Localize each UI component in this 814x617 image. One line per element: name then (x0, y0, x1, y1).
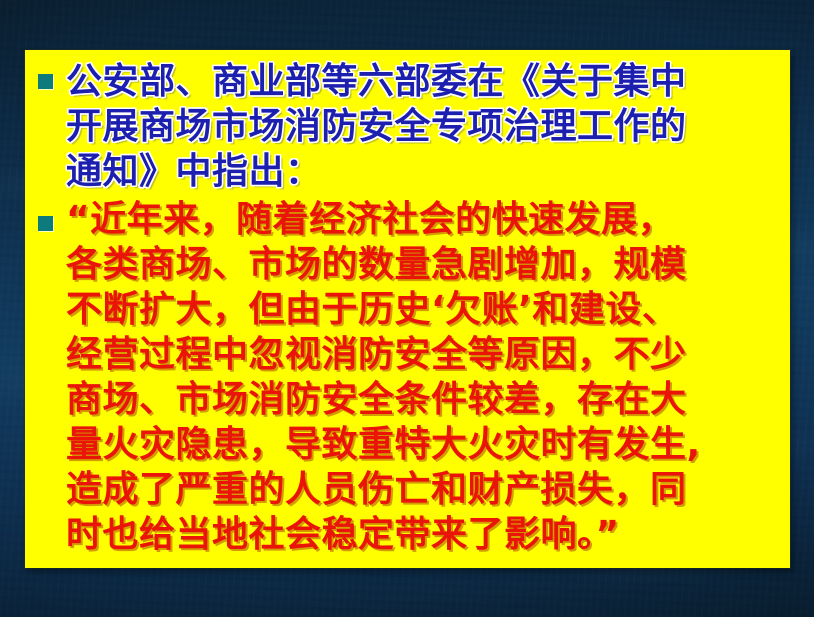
bullet-text-lines: 公安部、商业部等六部委在《关于集中 开展商场市场消防安全专项治理工作的 通知》中… (66, 59, 776, 194)
heading-line-2: 开展商场市场消防安全专项治理工作的 (66, 104, 687, 149)
square-bullet-icon (38, 216, 53, 231)
heading-line-1: 公安部、商业部等六部委在《关于集中 (66, 59, 687, 104)
quote-line-1: “近年来，随着经济社会的快速发展， (66, 197, 674, 242)
quote-line-4: 经营过程中忽视消防安全等原因，不少 (66, 332, 687, 377)
quote-line-6: 量火灾隐患，导致重特大火灾时有发生, (66, 422, 701, 467)
quote-line-2: 各类商场、市场的数量急剧增加，规模 (66, 242, 687, 287)
presentation-slide: 公安部、商业部等六部委在《关于集中 开展商场市场消防安全专项治理工作的 通知》中… (0, 0, 814, 617)
bullet-item-quotation: “近年来，随着经济社会的快速发展， 各类商场、市场的数量急剧增加，规模 不断扩大… (35, 197, 776, 557)
square-bullet-icon (38, 74, 53, 89)
quote-line-3: 不断扩大，但由于历史‘欠账’和建设、 (66, 287, 678, 332)
quote-line-5: 商场、市场消防安全条件较差，存在大 (66, 377, 687, 422)
heading-line-3: 通知》中指出： (66, 149, 322, 194)
quote-line-7: 造成了严重的人员伤亡和财产损失，同 (66, 467, 687, 512)
bullet-item-notice-heading: 公安部、商业部等六部委在《关于集中 开展商场市场消防安全专项治理工作的 通知》中… (35, 59, 776, 194)
yellow-content-panel: 公安部、商业部等六部委在《关于集中 开展商场市场消防安全专项治理工作的 通知》中… (25, 50, 790, 568)
bullet-text-lines: “近年来，随着经济社会的快速发展， 各类商场、市场的数量急剧增加，规模 不断扩大… (66, 197, 776, 557)
quote-line-8: 时也给当地社会稳定带来了影响。” (66, 512, 620, 557)
